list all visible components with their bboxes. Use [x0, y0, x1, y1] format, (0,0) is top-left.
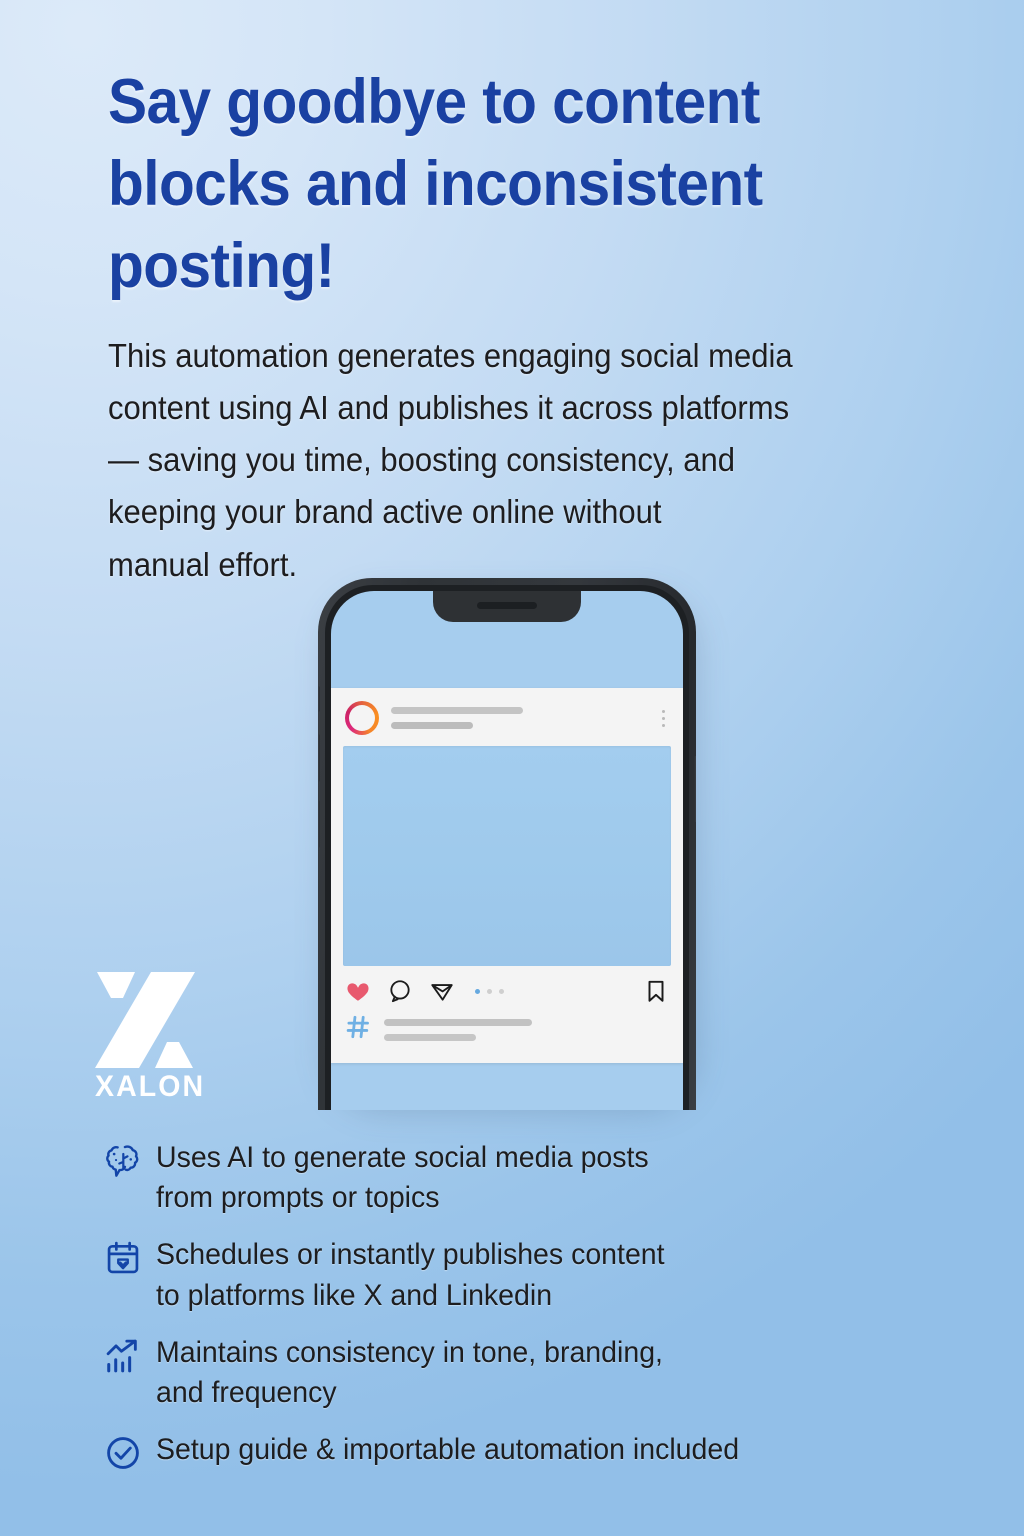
comment-bubble-icon[interactable]	[387, 978, 413, 1004]
author-name-bar	[391, 707, 523, 714]
feature-item-scheduling: Schedules or instantly publishes content…	[104, 1234, 984, 1315]
bookmark-icon[interactable]	[643, 978, 669, 1004]
phone-frame	[318, 578, 696, 1110]
caption-placeholder-bars	[384, 1014, 669, 1041]
feature-label: Schedules or instantly publishes content…	[156, 1234, 665, 1315]
volume-down-button[interactable]	[318, 800, 320, 848]
carousel-page-dots[interactable]	[475, 989, 643, 994]
more-options-vertical-dots-icon[interactable]	[662, 710, 665, 727]
feature-label: Maintains consistency in tone, branding,…	[156, 1332, 663, 1413]
earpiece-speaker-icon	[477, 602, 537, 609]
feature-list: Uses AI to generate social media posts f…	[104, 1137, 984, 1472]
phone-mockup	[318, 578, 706, 1110]
brand-logo: XALON	[95, 972, 220, 1104]
phone-screen	[331, 591, 683, 1110]
post-author-placeholder	[391, 707, 662, 729]
growth-chart-icon	[104, 1332, 156, 1375]
feature-item-ai-generation: Uses AI to generate social media posts f…	[104, 1137, 984, 1218]
avatar[interactable]	[345, 701, 379, 735]
post-header	[331, 688, 683, 746]
post-caption	[331, 1008, 683, 1063]
check-circle-icon	[104, 1429, 156, 1472]
volume-up-button[interactable]	[318, 734, 320, 782]
social-post-card	[331, 688, 683, 1063]
heart-icon[interactable]	[345, 978, 371, 1004]
brain-icon	[104, 1137, 156, 1180]
post-action-bar	[331, 966, 683, 1008]
feature-label: Uses AI to generate social media posts f…	[156, 1137, 649, 1218]
avatar-inner	[349, 705, 375, 731]
feature-item-setup-guide: Setup guide & importable automation incl…	[104, 1429, 984, 1472]
phone-notch	[433, 591, 581, 622]
power-button[interactable]	[694, 756, 696, 822]
brand-wordmark: XALON	[95, 1070, 214, 1104]
mute-switch-button[interactable]	[318, 686, 320, 712]
author-meta-bar	[391, 722, 473, 729]
feature-label: Setup guide & importable automation incl…	[156, 1429, 739, 1470]
hashtag-icon	[345, 1014, 371, 1045]
feature-item-consistency: Maintains consistency in tone, branding,…	[104, 1332, 984, 1413]
xalon-x-mark	[95, 972, 195, 1068]
page-description: This automation generates engaging socia…	[108, 330, 935, 591]
page-headline: Say goodbye to content blocks and incons…	[108, 62, 861, 308]
calendar-check-icon	[104, 1234, 156, 1277]
share-paper-plane-icon[interactable]	[429, 978, 455, 1004]
post-image-placeholder	[343, 746, 671, 966]
